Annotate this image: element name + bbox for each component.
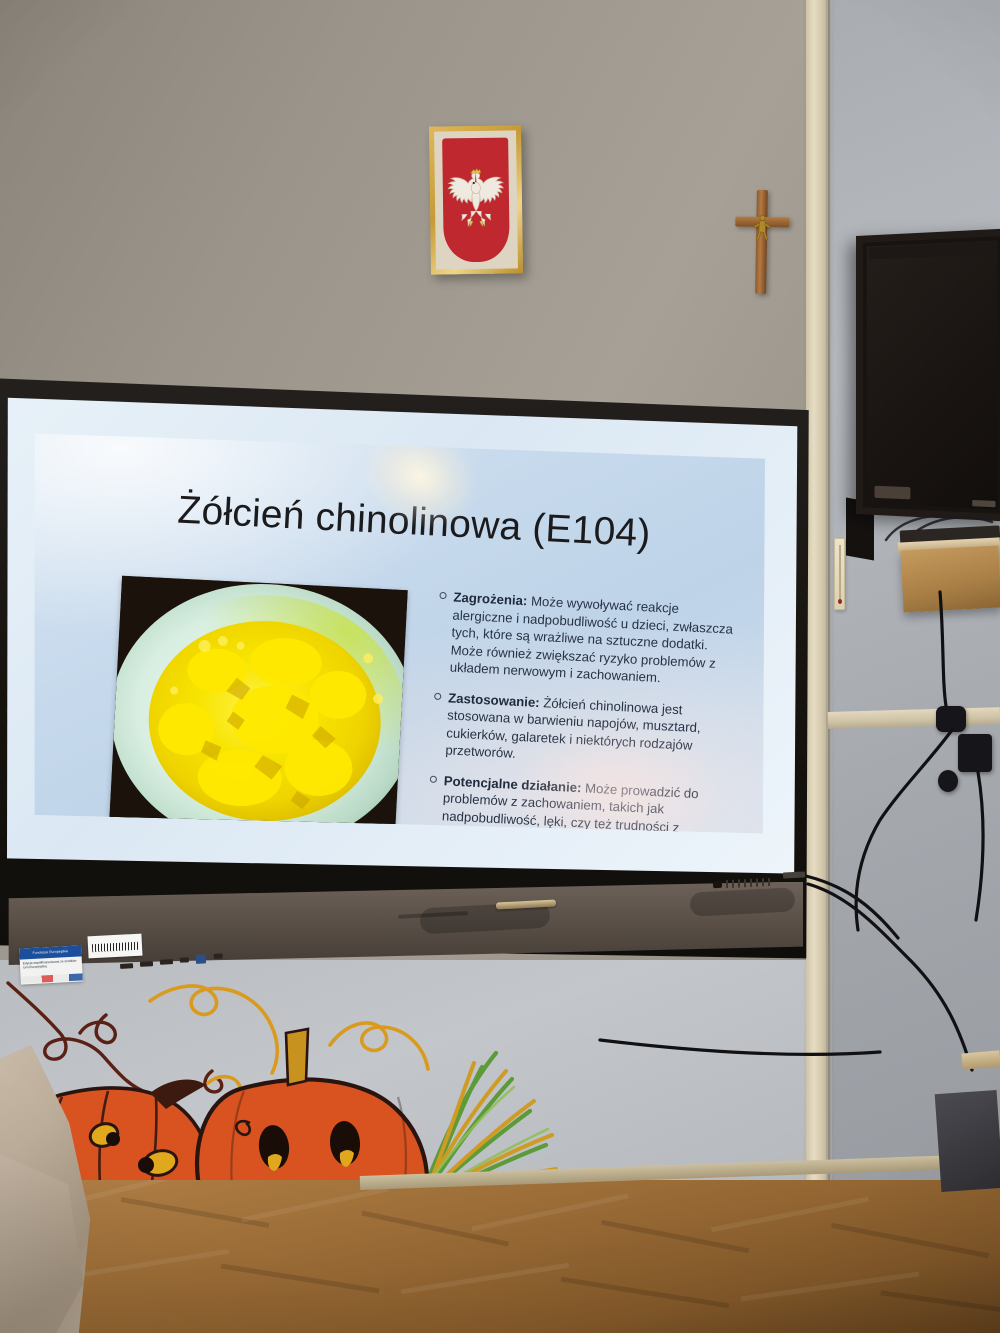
parquet-floor [0,1180,1000,1333]
bullet-lead: Zagrożenia: [453,590,528,609]
port-hdmi-2[interactable] [140,961,153,967]
port-usb-2[interactable] [180,957,189,962]
polish-coat-of-arms-frame [429,125,523,274]
bullet-potencjalne-dzialanie: Potencjalne działanie: Może prowadzić do… [425,772,728,846]
wall-thermometer [834,538,845,610]
slide-image-quinoline-yellow-powder [108,576,408,846]
tv-logo [972,500,995,507]
barcode-icon [92,942,138,952]
bullet-zagrozenia: Zagrożenia: Może wywoływać reakcje alerg… [434,588,738,691]
port-usb3[interactable] [196,954,206,964]
wall-trim-shadow [826,0,832,1190]
desk-edge [961,1050,1000,1069]
whiteboard-barcode-label [87,934,142,959]
whiteboard-ir-sensor [713,881,722,888]
power-adapter-3 [938,770,958,792]
whiteboard-screen[interactable]: Żółcień chinolinowa (E104) [5,384,800,894]
power-adapter-1 [936,706,966,732]
presentation-slide[interactable]: Żółcień chinolinowa (E104) [32,423,768,846]
crucifix-corpus-icon [753,212,772,256]
white-eagle-icon [444,162,507,239]
emblem-mat [434,130,518,269]
wall-mounted-tv[interactable] [856,228,1000,521]
bullet-marker-icon [429,776,436,783]
emblem-shield [442,138,510,263]
interactive-whiteboard[interactable]: Żółcień chinolinowa (E104) [0,366,812,962]
port-usb-1[interactable] [160,959,173,965]
slide-bullet-list: Zagrożenia: Może wywoływać reakcje alerg… [425,588,739,846]
wooden-shelf-box [900,545,1000,612]
bullet-zastosowanie: Zastosowanie: Żółcień chinolinowa jest s… [430,689,733,774]
bullet-text: Może wywoływać reakcje alergiczne i nadp… [449,593,733,685]
classroom-scene: Żółcień chinolinowa (E104) [0,0,1000,1333]
bullet-lead: Zastosowanie: [447,690,539,710]
crucifix [734,190,790,295]
port-hdmi-1[interactable] [120,963,133,969]
slide-title: Żółcień chinolinowa (E104) [176,489,738,561]
tv-screen [867,241,998,510]
thermometer-scale [839,545,841,599]
port-audio[interactable] [214,953,223,958]
tv-ports [875,486,911,500]
dark-object-bottom-right [935,1090,1000,1192]
whiteboard-brand-logo [783,871,805,878]
eu-sticker-body-text: Edycja współfinansowana ze środków Unii … [20,956,83,971]
thermometer-bulb [838,599,842,604]
power-adapter-2 [958,734,992,772]
yellow-powder-photo [108,576,408,846]
bullet-marker-icon [439,592,446,599]
bullet-marker-icon [434,693,441,700]
